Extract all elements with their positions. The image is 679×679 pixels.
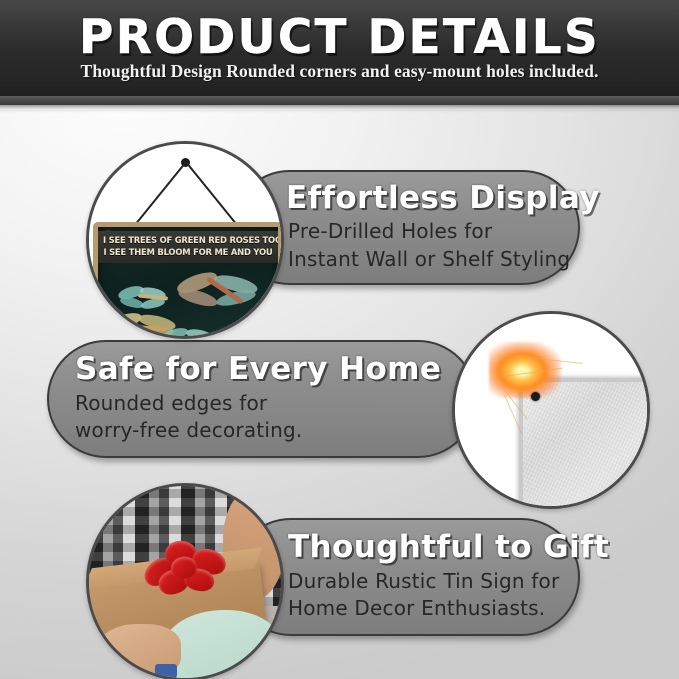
dragonfly-artwork: [98, 267, 278, 339]
tin-sign-line-1: I SEE TREES OF GREEN RED ROSES TOO: [103, 234, 273, 246]
hanging-cord-right: [185, 161, 239, 228]
dragonfly-icon: [114, 287, 172, 313]
red-ribbon-bow: [140, 533, 239, 606]
header-gloss-strip: [0, 105, 679, 113]
tin-sign-plate: I SEE TREES OF GREEN RED ROSES TOO I SEE…: [93, 222, 283, 339]
feature-image-rounded-metal-corner-closeup: [452, 311, 650, 509]
blue-detail: [155, 664, 177, 678]
hanging-cord-left: [132, 161, 186, 228]
product-details-poster: PRODUCT DETAILS Thoughtful Design Rounde…: [0, 0, 679, 679]
feature-line-2: Home Decor Enthusiasts.: [288, 595, 578, 623]
dragonfly-sign-scene: I SEE TREES OF GREEN RED ROSES TOO I SEE…: [89, 144, 281, 336]
feature-line-2: Instant Wall or Shelf Styling: [288, 246, 578, 274]
gift-handoff-scene: [89, 486, 281, 678]
dragonfly-icon: [160, 329, 218, 339]
feature-heading: Effortless Display: [286, 182, 578, 215]
page-subtitle: Thoughtful Design Rounded corners and ea…: [0, 61, 679, 82]
feature-line-2: worry-free decorating.: [75, 417, 475, 445]
feature-pill-effortless-display: Effortless Display Pre-Drilled Holes for…: [232, 170, 580, 285]
feature-pill-thoughtful-to-gift: Thoughtful to Gift Durable Rustic Tin Si…: [232, 518, 580, 636]
feature-heading: Thoughtful to Gift: [288, 531, 578, 564]
feature-line-1: Rounded edges for: [75, 390, 475, 418]
mounting-hole-icon: [531, 392, 540, 401]
header-divider-band: [0, 96, 679, 105]
feature-image-gift-box-with-red-bow: [86, 483, 284, 679]
tin-sign-line-2: I SEE THEM BLOOM FOR ME AND YOU: [103, 246, 273, 258]
feature-line-1: Pre-Drilled Holes for: [288, 218, 578, 246]
dragonfly-icon: [174, 275, 262, 317]
feature-pill-safe-for-every-home: Safe for Every Home Rounded edges for wo…: [47, 340, 477, 458]
feature-heading: Safe for Every Home: [75, 353, 475, 386]
tin-sign-text-block: I SEE TREES OF GREEN RED ROSES TOO I SEE…: [98, 231, 278, 263]
metal-corner-scene: [455, 314, 647, 506]
feature-image-hanging-dragonfly-tin-sign: I SEE TREES OF GREEN RED ROSES TOO I SEE…: [86, 141, 284, 339]
feature-line-1: Durable Rustic Tin Sign for: [288, 568, 578, 596]
page-title: PRODUCT DETAILS: [0, 10, 679, 65]
